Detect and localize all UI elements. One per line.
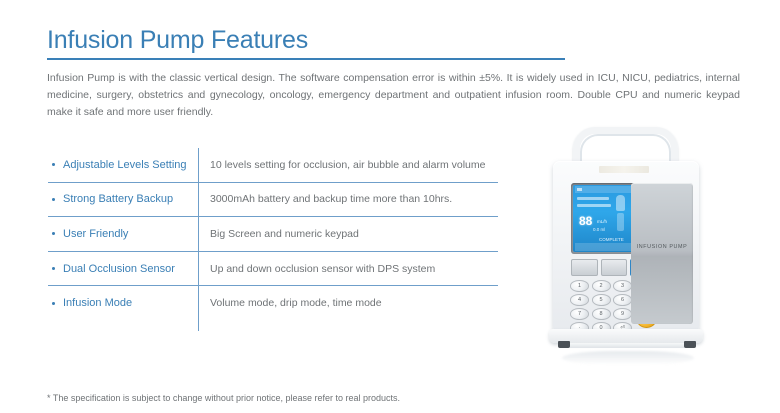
door-product-label: INFUSION PUMP (631, 244, 693, 250)
key-4[interactable]: 4 (570, 294, 589, 306)
feature-label-cell: User Friendly (48, 228, 198, 240)
battery-icon (577, 188, 582, 191)
feature-description: Volume mode, drip mode, time mode (198, 297, 498, 309)
key-6[interactable]: 6 (613, 294, 632, 306)
lcd-rate-value: 88 (579, 215, 592, 227)
pump-base-crossbar (566, 343, 690, 348)
lcd-sub-line: 0.0 ml (593, 227, 605, 232)
key-2[interactable]: 2 (592, 280, 611, 292)
table-row: Strong Battery Backup 3000mAh battery an… (48, 183, 498, 218)
brand-logo (599, 166, 649, 173)
syringe-icon (617, 213, 624, 231)
silence-alarm-button[interactable] (601, 259, 628, 276)
key-1[interactable]: 1 (570, 280, 589, 292)
feature-table: Adjustable Levels Setting 10 levels sett… (48, 148, 498, 320)
lcd-footer-bar (575, 243, 639, 251)
pump-foot-right (684, 341, 696, 348)
numeric-keypad[interactable]: 1 2 3 4 5 6 7 8 9 · 0 ⏎ (570, 280, 632, 334)
feature-label-cell: Strong Battery Backup (48, 193, 198, 205)
bullet-icon (52, 232, 55, 235)
bullet-icon (52, 198, 55, 201)
feature-label-cell: Dual Occlusion Sensor (48, 263, 198, 275)
title-divider (47, 58, 565, 60)
key-5[interactable]: 5 (592, 294, 611, 306)
feature-label-text: Adjustable Levels Setting (63, 159, 187, 171)
feature-description: 3000mAh battery and backup time more tha… (198, 193, 498, 205)
page-title: Infusion Pump Features (47, 26, 308, 55)
pump-door-panel: INFUSION PUMP (631, 183, 693, 324)
footnote: * The specification is subject to change… (47, 393, 400, 403)
table-row: Adjustable Levels Setting 10 levels sett… (48, 148, 498, 183)
feature-label-text: Dual Occlusion Sensor (63, 263, 175, 275)
table-row: Dual Occlusion Sensor Up and down occlus… (48, 252, 498, 287)
lcd-rate-unit: mL/h (597, 219, 607, 224)
pump-foot-left (558, 341, 570, 348)
table-row: Infusion Mode Volume mode, drip mode, ti… (48, 286, 498, 320)
bullet-icon (52, 267, 55, 270)
lcd-sub-line-2: COMPLETE (599, 237, 624, 242)
feature-description: 10 levels setting for occlusion, air bub… (198, 159, 498, 171)
pump-reflection (562, 351, 694, 365)
key-8[interactable]: 8 (592, 308, 611, 320)
lcd-text-line-1 (577, 197, 609, 200)
bullet-icon (52, 302, 55, 305)
table-column-divider (198, 148, 199, 331)
pump-base (549, 329, 703, 343)
feature-label-text: Strong Battery Backup (63, 193, 173, 205)
product-feature-page: Infusion Pump Features Infusion Pump is … (0, 0, 780, 413)
feature-description: Big Screen and numeric keypad (198, 228, 498, 240)
menu-button[interactable] (571, 259, 598, 276)
drip-chamber-icon (616, 195, 625, 211)
pump-body: 88 mL/h 0.0 ml COMPLETE (553, 161, 699, 334)
intro-paragraph: Infusion Pump is with the classic vertic… (47, 70, 740, 121)
key-9[interactable]: 9 (613, 308, 632, 320)
key-3[interactable]: 3 (613, 280, 632, 292)
bullet-icon (52, 163, 55, 166)
feature-description: Up and down occlusion sensor with DPS sy… (198, 263, 498, 275)
lcd-text-line-2 (577, 204, 611, 207)
feature-label-text: User Friendly (63, 228, 128, 240)
key-7[interactable]: 7 (570, 308, 589, 320)
feature-label-cell: Adjustable Levels Setting (48, 159, 198, 171)
lcd-status-bar (575, 186, 639, 193)
table-row: User Friendly Big Screen and numeric key… (48, 217, 498, 252)
feature-label-cell: Infusion Mode (48, 297, 198, 309)
product-image-infusion-pump: 88 mL/h 0.0 ml COMPLETE (540, 125, 720, 357)
feature-label-text: Infusion Mode (63, 297, 132, 309)
